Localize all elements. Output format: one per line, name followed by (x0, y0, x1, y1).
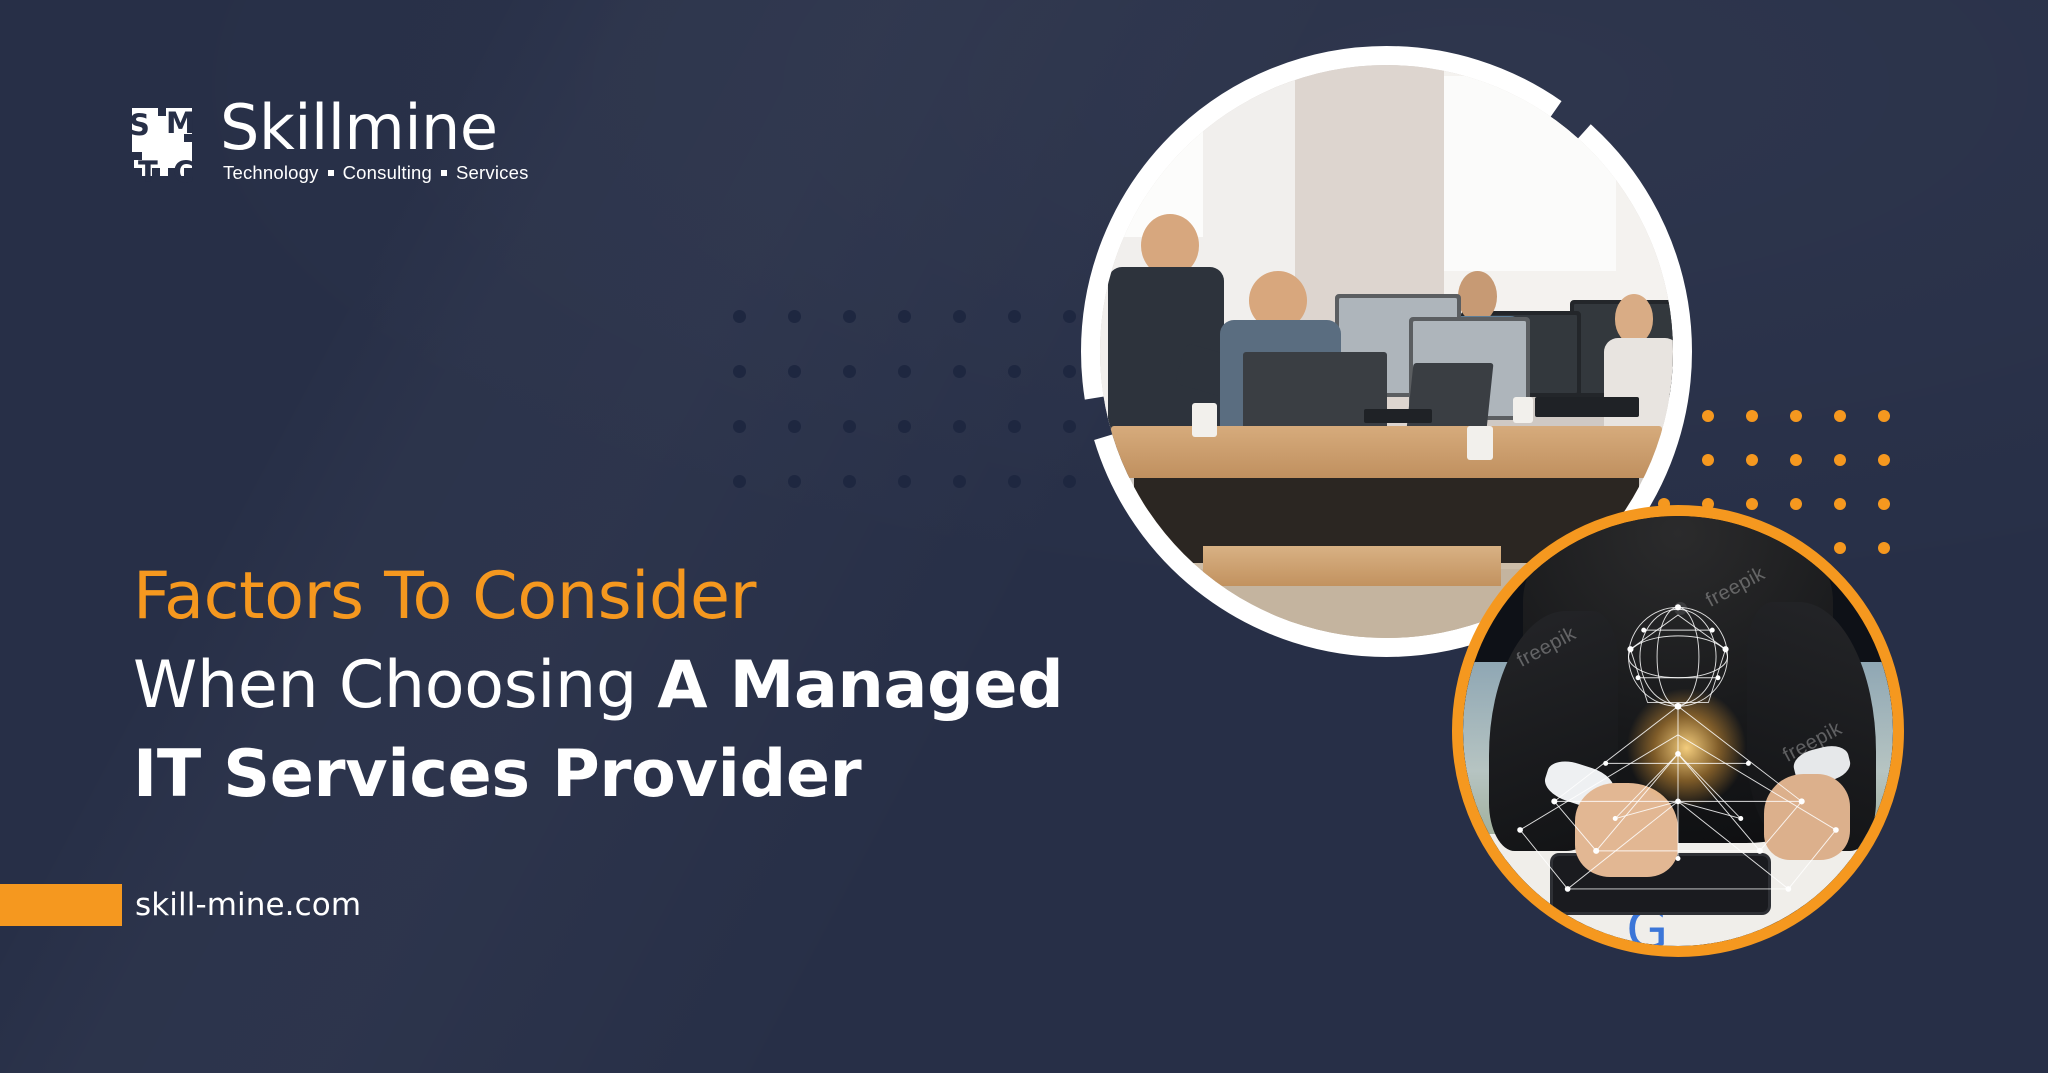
headline-line-2-regular: When Choosing (133, 648, 657, 723)
skillmine-logo[interactable]: S M T C Skillmine Technology Consulting … (124, 96, 529, 184)
tagline-separator-square-icon (441, 170, 447, 176)
logo-mark-icon: S M T C (124, 102, 200, 184)
website-url[interactable]: skill-mine.com (135, 884, 361, 926)
headline-block: Factors To Consider When Choosing A Mana… (133, 552, 1193, 819)
headline-line-2-bold: A Managed (657, 648, 1063, 723)
headline-line-1: Factors To Consider (133, 552, 1193, 641)
logo-tagline: Technology Consulting Services (223, 162, 529, 184)
headline-line-2: When Choosing A Managed (133, 641, 1193, 730)
svg-text:S: S (129, 108, 150, 142)
svg-text:T: T (138, 155, 158, 184)
svg-text:C: C (173, 155, 194, 184)
logo-wordmark: Skillmine (220, 98, 529, 158)
tagline-item-consulting: Consulting (343, 162, 432, 184)
svg-text:M: M (166, 106, 195, 140)
ai-hologram-photo: G (1452, 505, 1904, 957)
dark-dot-grid-decoration (733, 310, 1118, 530)
banner-canvas: G (0, 0, 2048, 1073)
url-accent-bar (0, 884, 122, 926)
headline-line-3: IT Services Provider (133, 730, 1193, 819)
tagline-separator-square-icon (328, 170, 334, 176)
tagline-item-technology: Technology (223, 162, 319, 184)
tagline-item-services: Services (456, 162, 529, 184)
